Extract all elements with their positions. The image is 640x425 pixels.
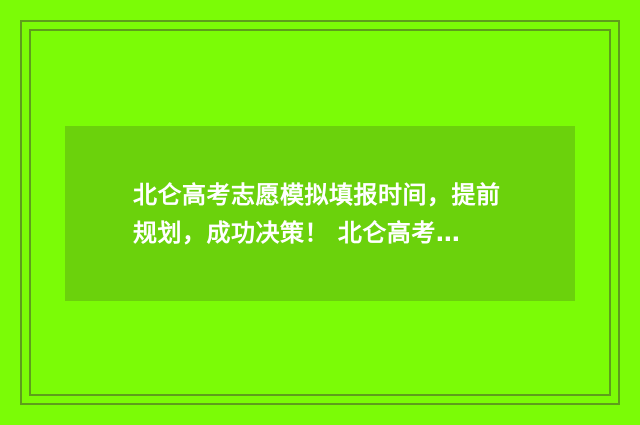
page-root: 北仑高考志愿模拟填报时间，提前规划，成功决策！ 北仑高考… xyxy=(0,0,640,425)
headline-text: 北仑高考志愿模拟填报时间，提前规划，成功决策！ 北仑高考… xyxy=(65,176,575,252)
headline-card: 北仑高考志愿模拟填报时间，提前规划，成功决策！ 北仑高考… xyxy=(65,126,575,301)
